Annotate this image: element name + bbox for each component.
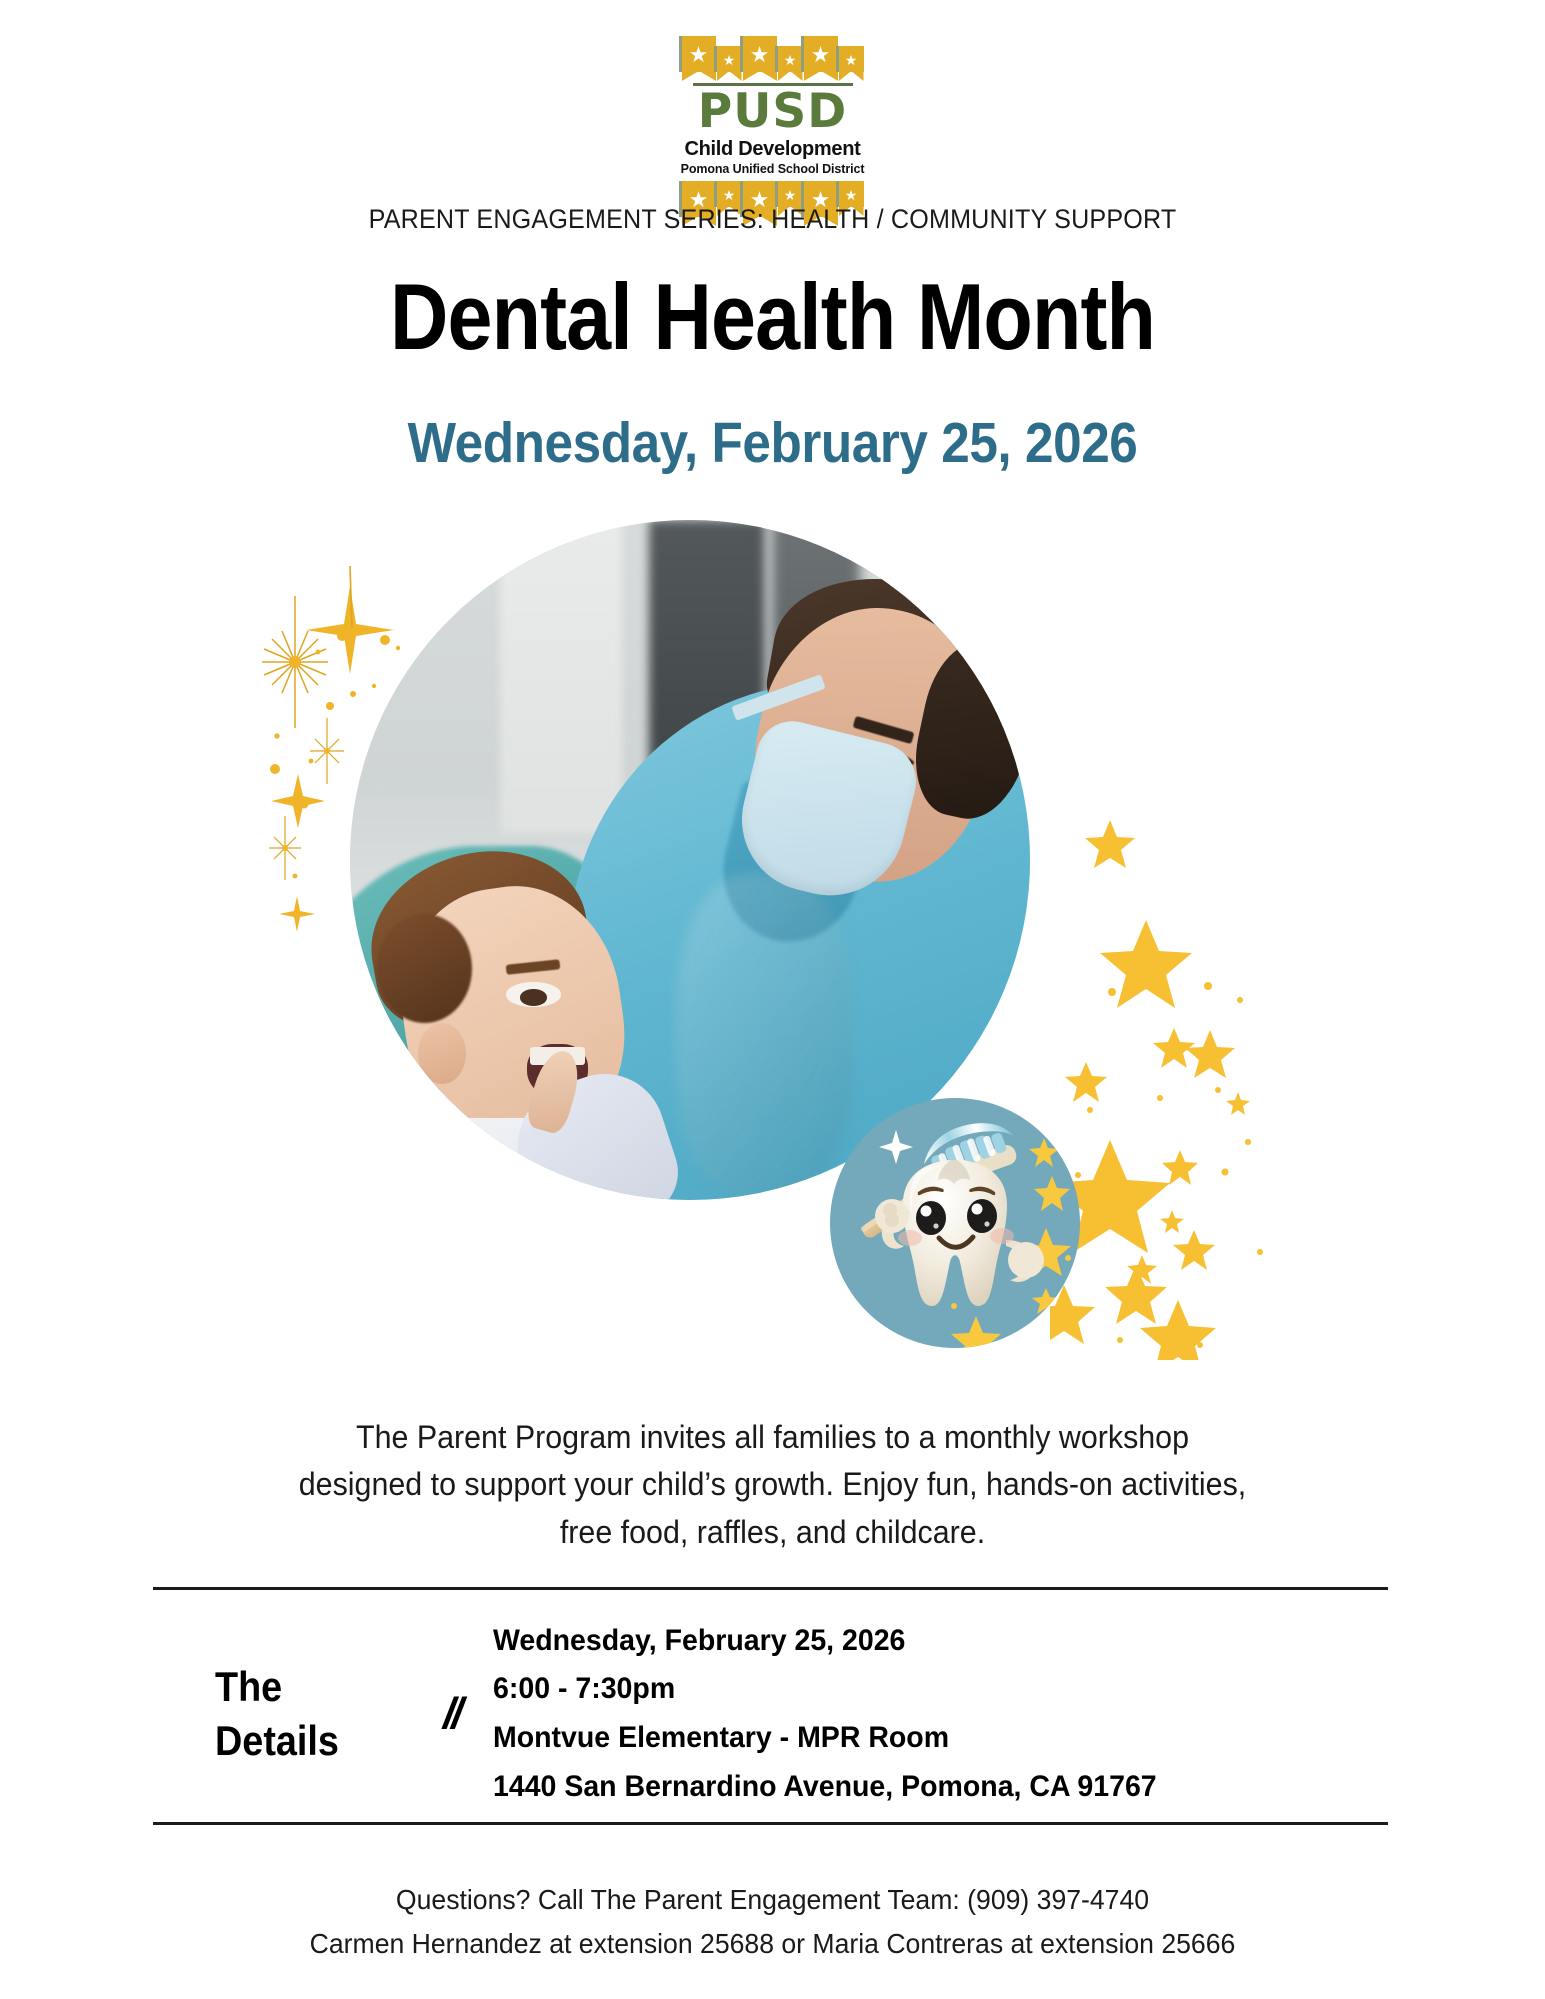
details-address: 1440 San Bernardino Avenue, Pomona, CA 9… bbox=[493, 1763, 1157, 1812]
page-title: Dental Health Month bbox=[108, 268, 1437, 367]
star-flag-icon: ★ bbox=[839, 46, 864, 72]
description-line-2: designed to support your child’s growth.… bbox=[200, 1461, 1345, 1508]
star-icon: ★ bbox=[689, 44, 709, 66]
description-line-3: free food, raffles, and childcare. bbox=[200, 1509, 1345, 1556]
star-flag-icon: ★ bbox=[778, 46, 803, 72]
pusd-logo: ★ ★ ★ ★ ★ ★ PUSD Child Development Pomon… bbox=[0, 22, 1545, 217]
details-separator-icon: // bbox=[443, 1689, 459, 1739]
star-icon: ★ bbox=[845, 188, 858, 202]
description-paragraph: The Parent Program invites all families … bbox=[200, 1414, 1345, 1556]
star-icon: ★ bbox=[811, 44, 831, 66]
date-headline: Wednesday, February 25, 2026 bbox=[77, 414, 1468, 474]
details-location: Montvue Elementary - MPR Room bbox=[493, 1714, 1157, 1763]
star-flag-icon: ★ bbox=[804, 36, 838, 72]
logo-banner-top: ★ ★ ★ ★ ★ ★ bbox=[682, 22, 864, 72]
star-icon: ★ bbox=[784, 188, 797, 202]
details-rule-bottom bbox=[153, 1822, 1388, 1825]
details-rule-top bbox=[153, 1587, 1388, 1590]
star-flag-icon: ★ bbox=[682, 36, 716, 72]
details-list: Wednesday, February 25, 2026 6:00 - 7:30… bbox=[493, 1617, 1157, 1811]
star-icon: ★ bbox=[723, 188, 736, 202]
footer-contact: Questions? Call The Parent Engagement Te… bbox=[39, 1878, 1507, 1966]
details-time: 6:00 - 7:30pm bbox=[493, 1665, 1157, 1714]
logo-acronym: PUSD bbox=[698, 88, 847, 135]
details-heading-line-1: The bbox=[215, 1660, 413, 1714]
details-date: Wednesday, February 25, 2026 bbox=[493, 1617, 1157, 1666]
flyer-page: ★ ★ ★ ★ ★ ★ PUSD Child Development Pomon… bbox=[0, 0, 1545, 1999]
star-icon: ★ bbox=[750, 44, 770, 66]
details-heading-line-2: Details bbox=[215, 1714, 413, 1768]
logo-district-name: Pomona Unified School District bbox=[681, 162, 865, 176]
logo-program-name: Child Development bbox=[684, 138, 860, 161]
star-flag-icon: ★ bbox=[717, 46, 742, 72]
star-icon: ★ bbox=[723, 53, 736, 67]
details-section: The Details // Wednesday, February 25, 2… bbox=[153, 1614, 1388, 1814]
hero-graphic bbox=[255, 520, 1290, 1200]
description-line-1: The Parent Program invites all families … bbox=[200, 1414, 1345, 1461]
sparkle-cluster-right-icon bbox=[1050, 800, 1300, 1360]
details-heading: The Details bbox=[215, 1660, 413, 1768]
star-icon: ★ bbox=[845, 53, 858, 67]
star-flag-icon: ★ bbox=[743, 36, 777, 72]
dentist-photo bbox=[350, 520, 1030, 1200]
series-eyebrow: PARENT ENGAGEMENT SERIES: HEALTH / COMMU… bbox=[54, 204, 1491, 235]
footer-line-2: Carmen Hernandez at extension 25688 or M… bbox=[39, 1922, 1507, 1966]
star-icon: ★ bbox=[784, 53, 797, 67]
footer-line-1: Questions? Call The Parent Engagement Te… bbox=[39, 1878, 1507, 1922]
tooth-mascot bbox=[830, 1098, 1080, 1348]
